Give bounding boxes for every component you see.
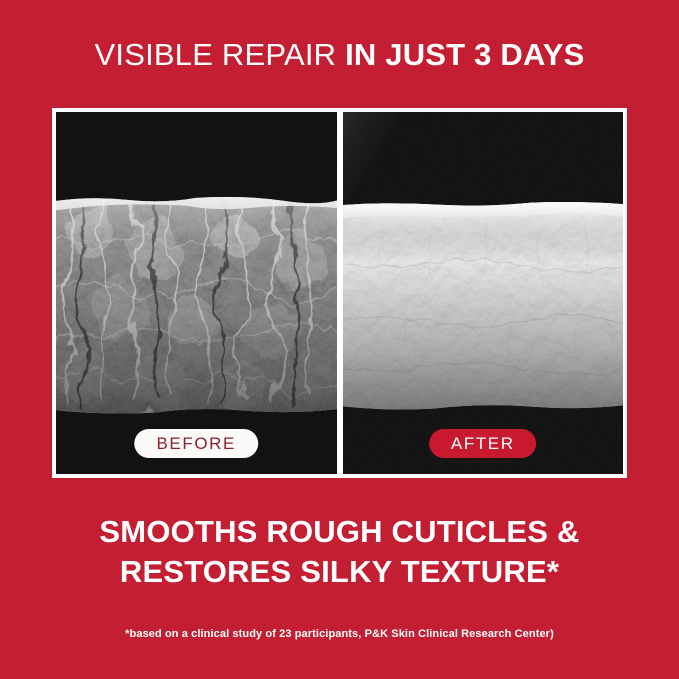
after-panel: AFTER <box>343 112 624 474</box>
page-title: VISIBLE REPAIR IN JUST 3 DAYS <box>0 36 679 74</box>
status-badge-after: AFTER <box>429 429 537 458</box>
after-hair-shaft <box>343 197 624 414</box>
subheadline-line-2: RESTORES SILKY TEXTURE* <box>0 552 679 592</box>
footnote-disclaimer: *based on a clinical study of 23 partici… <box>0 628 679 640</box>
ad-creative: VISIBLE REPAIR IN JUST 3 DAYS <box>0 0 679 679</box>
status-badge-before: BEFORE <box>134 429 258 458</box>
after-hair-texture-image <box>343 197 624 414</box>
subheadline-line-1: SMOOTHS ROUGH CUTICLES & <box>99 514 579 549</box>
before-after-comparison: BEFORE <box>52 108 627 478</box>
subheadline: SMOOTHS ROUGH CUTICLES & RESTORES SILKY … <box>0 512 679 592</box>
before-hair-shaft <box>56 192 337 416</box>
headline-bold-text: IN JUST 3 DAYS <box>345 37 584 72</box>
before-hair-texture-image <box>56 192 337 416</box>
before-panel: BEFORE <box>56 112 337 474</box>
headline-light-text: VISIBLE REPAIR <box>95 37 337 72</box>
